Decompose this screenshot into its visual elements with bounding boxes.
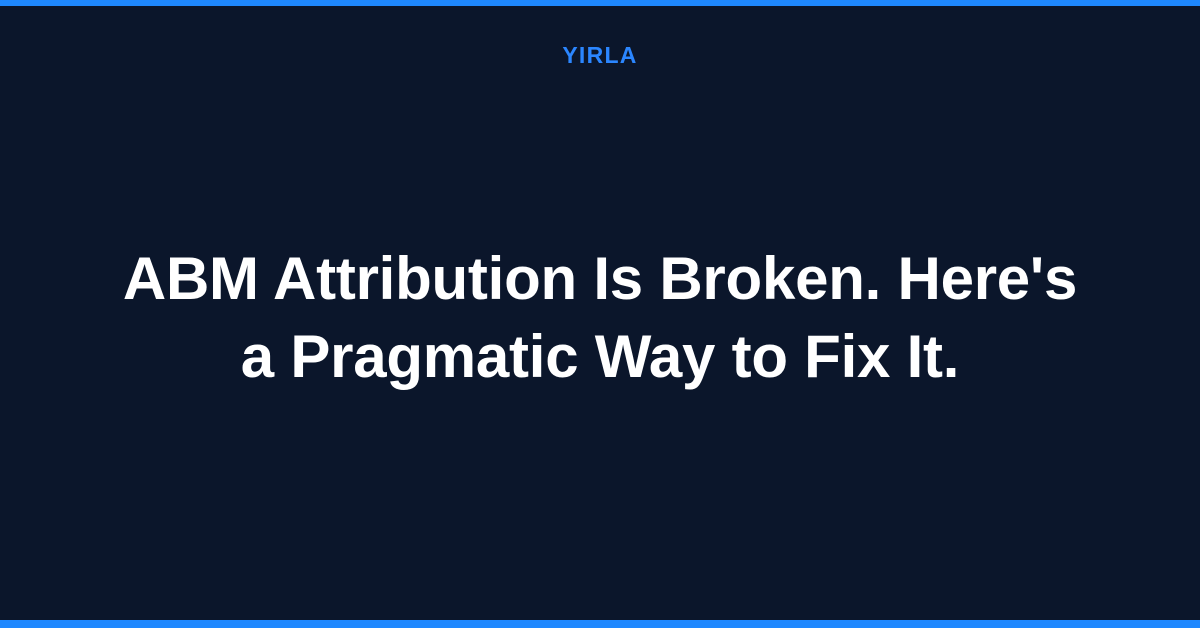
headline-line-1: ABM Attribution Is Broken. Here's bbox=[123, 240, 1077, 318]
bottom-accent-bar bbox=[0, 620, 1200, 628]
brand-wordmark[interactable]: YIRLA bbox=[562, 44, 637, 67]
headline-area: ABM Attribution Is Broken. Here's a Prag… bbox=[0, 96, 1200, 540]
brand-header: YIRLA bbox=[0, 0, 1200, 96]
headline-line-2: a Pragmatic Way to Fix It. bbox=[123, 318, 1077, 396]
page-title: ABM Attribution Is Broken. Here's a Prag… bbox=[123, 240, 1077, 396]
social-share-card: YIRLA ABM Attribution Is Broken. Here's … bbox=[0, 0, 1200, 628]
